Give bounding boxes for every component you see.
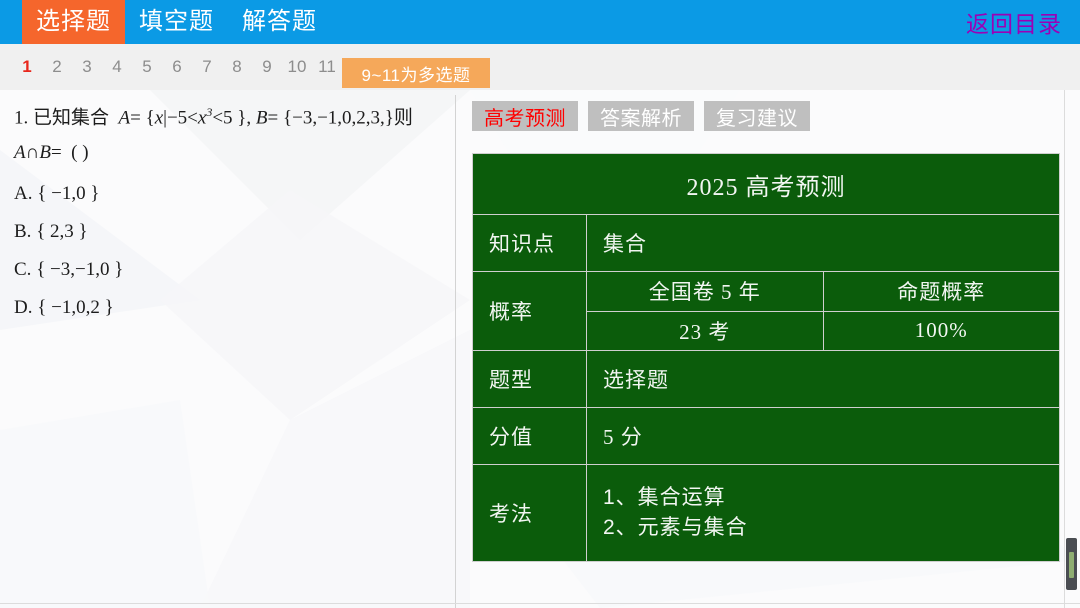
tab-exam-prediction[interactable]: 高考预测: [472, 101, 578, 131]
top-header-bar: 选择题 填空题 解答题 返回目录: [0, 0, 1080, 44]
row-label-knowledge: 知识点: [473, 215, 587, 271]
question-number-11[interactable]: 11: [312, 57, 342, 77]
header-tab-fill-blank[interactable]: 填空题: [125, 0, 228, 44]
main-content: 1. 已知集合 A= {x|−5<x3<5 }, B= {−3,−1,0,2,3…: [0, 90, 1080, 608]
set-a-variable: x: [155, 107, 163, 128]
tab-answer-analysis[interactable]: 答案解析: [588, 101, 694, 131]
probability-value-row: 23 考 100%: [587, 312, 1059, 351]
option-a-text: { −1,0 }: [37, 183, 99, 204]
question-then-word: 则: [394, 107, 413, 128]
option-a-key: A.: [14, 183, 32, 204]
set-a-eq: = {: [130, 107, 155, 128]
question-number-label: 1.: [14, 107, 28, 128]
table-row-question-type: 题型 选择题: [473, 350, 1059, 407]
set-b-eq: = {−3,−1,0,2,3,}: [268, 107, 394, 128]
row-value-method: 1、集合运算 2、元素与集合: [587, 465, 1059, 561]
option-c-key: C.: [14, 259, 31, 280]
vertical-scrollbar[interactable]: [1066, 538, 1077, 590]
question-number-3[interactable]: 3: [72, 57, 102, 77]
table-row-probability: 概率 全国卷 5 年 命题概率 23 考 100%: [473, 271, 1059, 350]
multi-choice-badge[interactable]: 9~11为多选题: [342, 58, 490, 88]
table-title-row: 2025 高考预测: [473, 154, 1059, 214]
method-line-1: 1、集合运算: [603, 483, 1059, 513]
question-number-list: 1 2 3 4 5 6 7 8 9 10 11: [12, 44, 342, 90]
intersect-operator: ∩: [26, 142, 40, 163]
back-to-catalog-link[interactable]: 返回目录: [966, 0, 1062, 44]
option-d[interactable]: D. { −1,0,2 }: [14, 297, 441, 319]
intersect-set-a: A: [14, 142, 26, 163]
probability-subtable: 全国卷 5 年 命题概率 23 考 100%: [587, 272, 1059, 350]
probability-value-count: 23 考: [587, 312, 824, 351]
prediction-table-title: 2025 高考预测: [473, 154, 1059, 214]
intersect-set-b: B: [39, 142, 51, 163]
slide-root: 选择题 填空题 解答题 返回目录 1 2 3 4 5 6 7 8 9 10 11…: [0, 0, 1080, 608]
row-label-question-type: 题型: [473, 351, 587, 407]
set-a-condition-post: <5 }: [212, 107, 246, 128]
option-b[interactable]: B. { 2,3 }: [14, 221, 441, 243]
scrollbar-thumb-inner: [1069, 552, 1074, 578]
question-panel: 1. 已知集合 A= {x|−5<x3<5 }, B= {−3,−1,0,2,3…: [0, 90, 455, 608]
table-row-score: 分值 5 分: [473, 407, 1059, 464]
question-number-5[interactable]: 5: [132, 57, 162, 77]
header-tab-choice[interactable]: 选择题: [22, 0, 125, 44]
answer-blank-parens: ( ): [71, 142, 88, 163]
probability-header-rate: 命题概率: [824, 272, 1060, 311]
answer-tab-group: 高考预测 答案解析 复习建议: [472, 101, 810, 131]
option-c-text: { −3,−1,0 }: [36, 259, 123, 280]
question-stem-line2: A∩B= ( ): [14, 143, 441, 163]
option-c[interactable]: C. { −3,−1,0 }: [14, 259, 441, 281]
question-number-7[interactable]: 7: [192, 57, 222, 77]
option-d-key: D.: [14, 297, 32, 318]
question-stem-prefix: 已知集合: [33, 107, 109, 128]
table-row-method: 考法 1、集合运算 2、元素与集合: [473, 464, 1059, 561]
question-number-10[interactable]: 10: [282, 57, 312, 77]
intersect-equals: =: [51, 142, 62, 163]
set-separator-comma: ,: [246, 107, 256, 128]
question-stem-line1: 1. 已知集合 A= {x|−5<x3<5 }, B= {−3,−1,0,2,3…: [14, 106, 441, 128]
tab-review-advice[interactable]: 复习建议: [704, 101, 810, 131]
row-value-score: 5 分: [587, 408, 1059, 464]
row-value-question-type: 选择题: [587, 351, 1059, 407]
option-a[interactable]: A. { −1,0 }: [14, 183, 441, 205]
probability-header-row: 全国卷 5 年 命题概率: [587, 272, 1059, 312]
question-number-4[interactable]: 4: [102, 57, 132, 77]
question-number-9[interactable]: 9: [252, 57, 282, 77]
row-label-score: 分值: [473, 408, 587, 464]
table-row-knowledge: 知识点 集合: [473, 214, 1059, 271]
probability-header-years: 全国卷 5 年: [587, 272, 824, 311]
row-label-method: 考法: [473, 465, 587, 561]
question-number-6[interactable]: 6: [162, 57, 192, 77]
question-number-bar: 1 2 3 4 5 6 7 8 9 10 11: [0, 44, 1080, 90]
prediction-table: 2025 高考预测 知识点 集合 概率 全国卷 5 年 命题概率 23 考: [472, 153, 1060, 562]
option-b-key: B.: [14, 221, 31, 242]
row-value-knowledge: 集合: [587, 215, 1059, 271]
probability-value-rate: 100%: [824, 312, 1060, 351]
method-line-2: 2、元素与集合: [603, 513, 1059, 543]
row-label-probability: 概率: [473, 272, 587, 350]
question-number-8[interactable]: 8: [222, 57, 252, 77]
question-number-2[interactable]: 2: [42, 57, 72, 77]
answer-panel: 高考预测 答案解析 复习建议 2025 高考预测 知识点 集合 概率 全国卷 5…: [456, 90, 1080, 608]
set-b-label: B: [256, 107, 268, 128]
set-a-condition-pre: |−5<: [163, 107, 198, 128]
question-number-1[interactable]: 1: [12, 57, 42, 77]
set-a-label: A: [119, 107, 131, 128]
header-tab-group: 选择题 填空题 解答题: [22, 0, 331, 44]
option-d-text: { −1,0,2 }: [37, 297, 113, 318]
scrollbar-thumb[interactable]: [1066, 538, 1077, 590]
option-b-text: { 2,3 }: [36, 221, 88, 242]
header-tab-solution[interactable]: 解答题: [228, 0, 331, 44]
